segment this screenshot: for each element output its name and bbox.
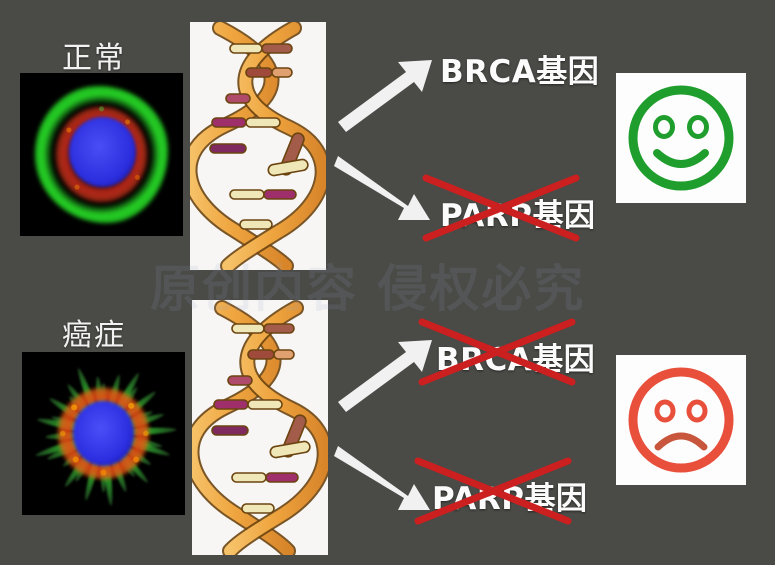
gene-name-text: PARP基因: [440, 190, 595, 235]
dna-double-helix-illustration: [190, 22, 326, 270]
gene-name-text: BRCA基因: [436, 334, 595, 379]
fluorescent-speckles: [22, 352, 185, 515]
normal-cell-micrograph: [20, 73, 183, 236]
outcome-happy-panel: [616, 73, 746, 203]
row-label-cancer: 癌症: [62, 310, 126, 354]
outcome-sad-panel: [616, 355, 746, 485]
cancer-cell-micrograph: [22, 352, 185, 515]
happy-face-icon: [616, 73, 746, 203]
gene-name-text: PARP基因: [432, 473, 587, 518]
cancer-cell-inner: [22, 352, 185, 515]
dna-panel-cancer: [192, 300, 328, 555]
gene-label-brca-normal: BRCA基因: [440, 46, 599, 91]
fluorescent-speckles: [20, 73, 183, 236]
arrow-cancer-to-parp: [336, 440, 434, 512]
gene-name-text: BRCA基因: [440, 46, 599, 91]
arrow-normal-to-parp: [336, 150, 434, 222]
dna-double-helix-illustration: [192, 300, 328, 555]
row-label-normal: 正常: [62, 33, 126, 77]
arrow-normal-to-brca: [336, 58, 434, 130]
figure-canvas: 正常: [0, 0, 775, 565]
arrow-cancer-to-brca: [336, 338, 434, 410]
gene-label-parp-cancer: PARP基因: [432, 473, 587, 518]
gene-label-parp-normal: PARP基因: [440, 190, 595, 235]
normal-cell-inner: [20, 73, 183, 236]
dna-panel-normal: [190, 22, 326, 270]
gene-label-brca-cancer: BRCA基因: [436, 334, 595, 379]
sad-face-icon: [616, 355, 746, 485]
